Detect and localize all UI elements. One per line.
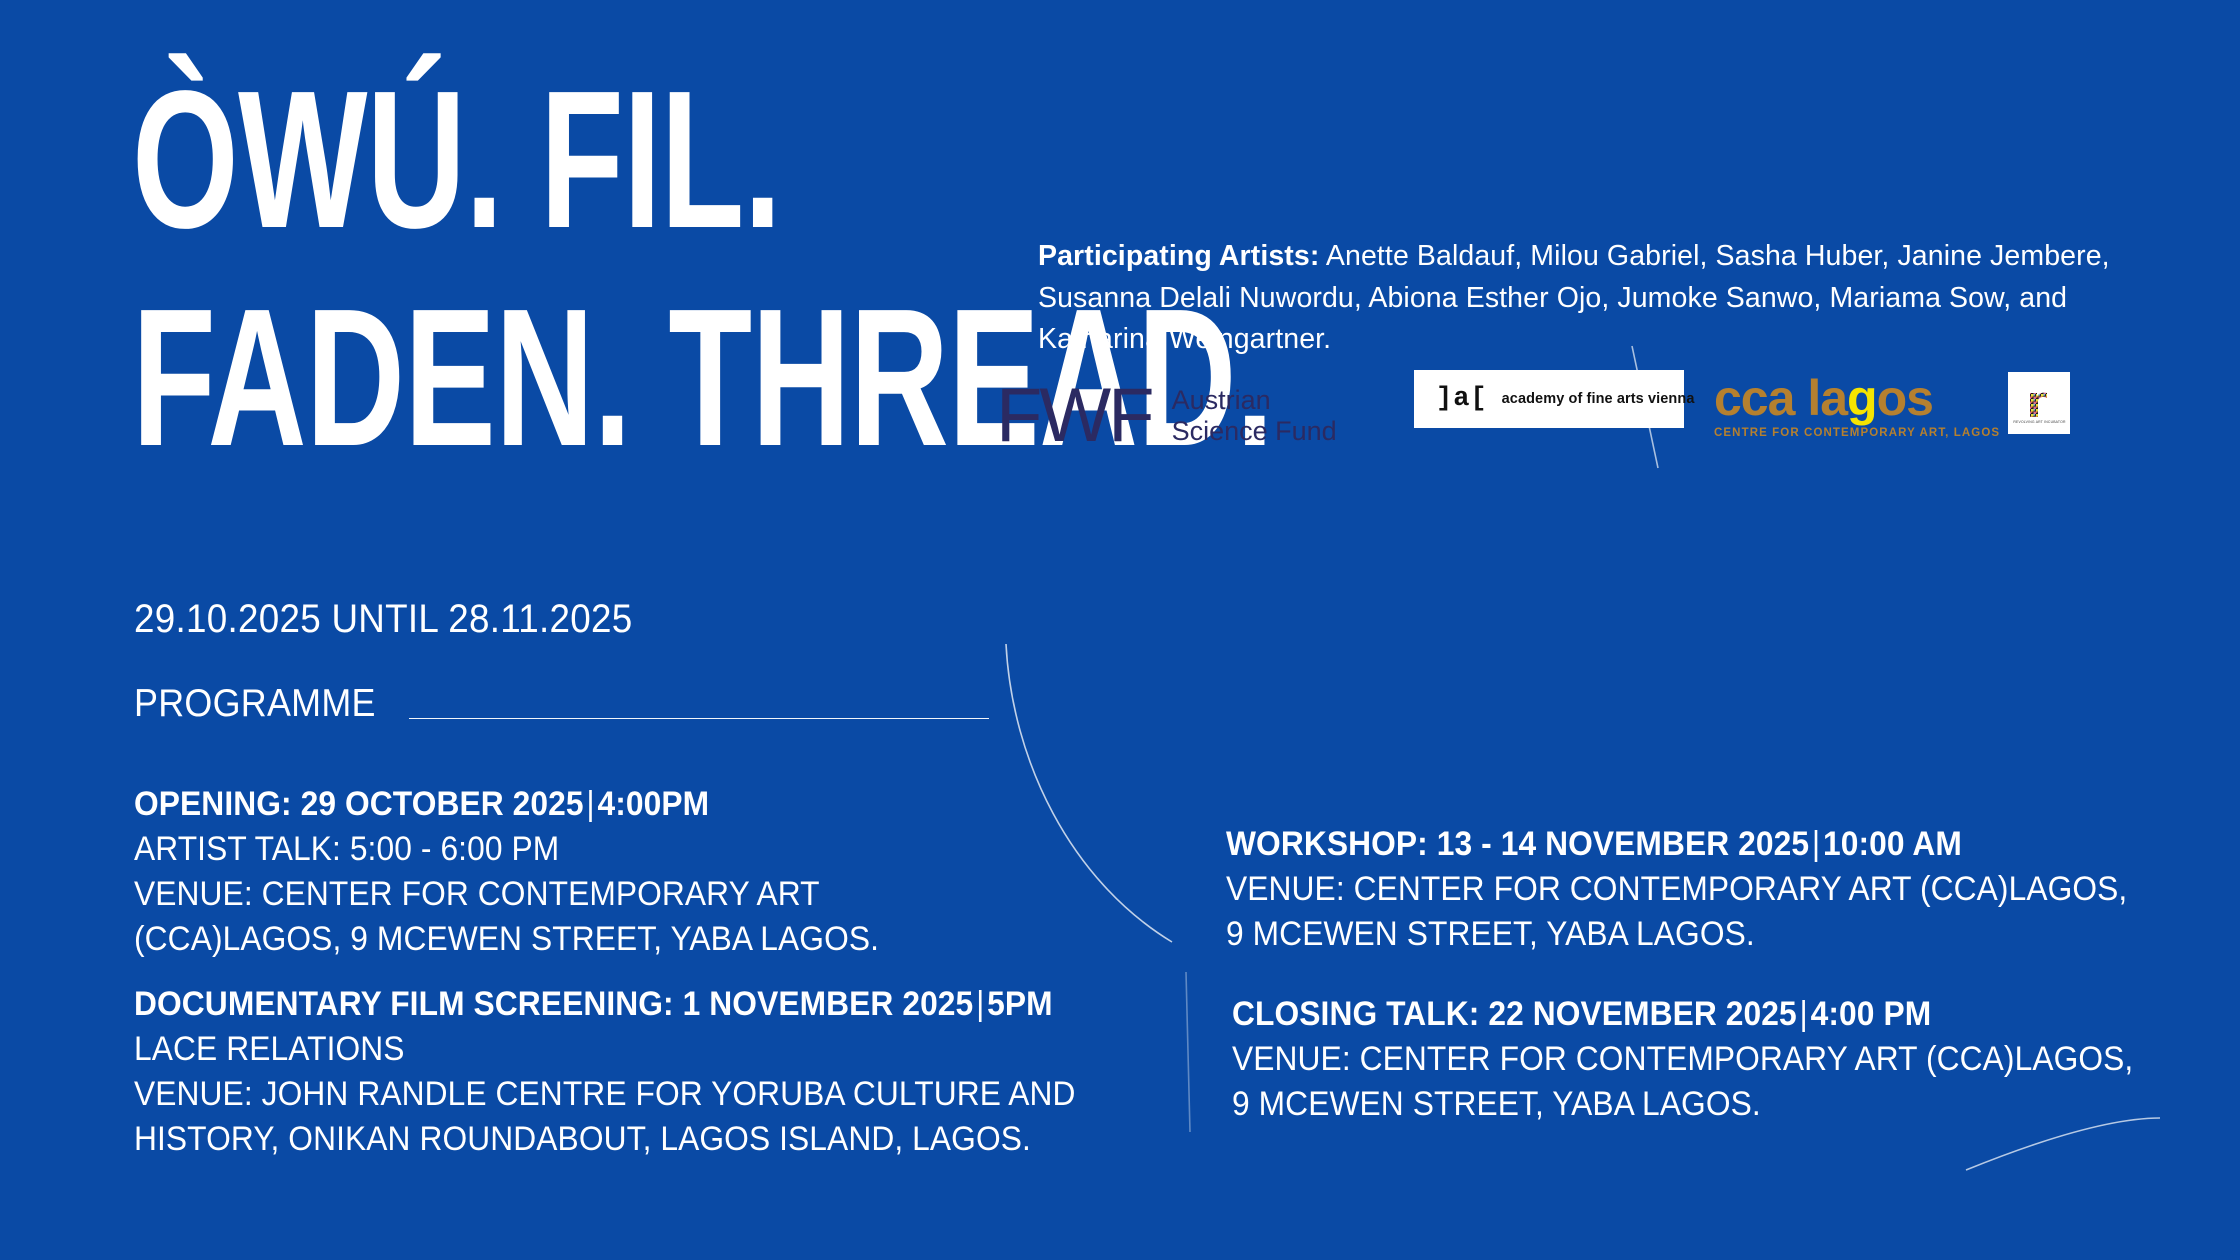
event-closing-title-prefix: CLOSING TALK: 22 NOVEMBER 2025 [1232,995,1797,1033]
logo-revolving-art-incubator: REVOLVING ART INCUBATOR [2008,372,2070,434]
event-opening-title: OPENING: 29 OCTOBER 2025|4:00PM [134,782,1100,827]
event-workshop-time: 10:00 AM [1823,825,1962,863]
event-workshop-line3: 9 MCEWEN STREET, YABA LAGOS. [1226,912,2146,957]
event-closing-title: CLOSING TALK: 22 NOVEMBER 2025|4:00 PM [1232,992,2152,1037]
academy-wordmark: academy of fine arts vienna [1502,391,1695,407]
event-closing-divider: | [1797,995,1811,1033]
event-workshop-divider: | [1809,825,1823,863]
rai-collage-r-icon [2026,384,2052,418]
programme-heading: PROGRAMME [134,682,989,726]
logo-fwf-austrian-science-fund: FWF Austrian Science Fund [996,378,1337,454]
event-closing-line3: 9 MCEWEN STREET, YABA LAGOS. [1232,1082,2152,1127]
event-workshop-title-prefix: WORKSHOP: 13 - 14 NOVEMBER 2025 [1226,825,1809,863]
academy-bracket-icon: ]a[ [1436,384,1488,414]
event-opening-line3: VENUE: CENTER FOR CONTEMPORARY ART [134,872,1100,917]
event-opening-divider: | [584,785,598,823]
partner-logos: FWF Austrian Science Fund ]a[ academy of… [996,370,2116,460]
participating-artists: Participating Artists: Anette Baldauf, M… [1038,236,2138,361]
event-workshop-line2: VENUE: CENTER FOR CONTEMPORARY ART (CCA)… [1226,867,2146,912]
logo-academy-of-fine-arts-vienna: ]a[ academy of fine arts vienna [1414,370,1684,428]
exhibition-dates: 29.10.2025 UNTIL 28.11.2025 [134,597,632,642]
cca-subtitle: CENTRE FOR CONTEMPORARY ART, LAGOS [1714,427,2000,439]
event-screening-title-prefix: DOCUMENTARY FILM SCREENING: 1 NOVEMBER 2… [134,985,973,1023]
event-screening: DOCUMENTARY FILM SCREENING: 1 NOVEMBER 2… [134,982,1214,1161]
event-screening-title: DOCUMENTARY FILM SCREENING: 1 NOVEMBER 2… [134,982,1128,1027]
event-closing-time: 4:00 PM [1811,995,1932,1033]
fwf-line2: Science Fund [1172,416,1337,447]
event-closing: CLOSING TALK: 22 NOVEMBER 2025|4:00 PM V… [1232,992,2232,1127]
fwf-fullname: Austrian Science Fund [1172,385,1337,447]
event-opening-line4: (CCA)LAGOS, 9 MCEWEN STREET, YABA LAGOS. [134,917,1100,962]
cca-wordmark: cca lagos [1714,372,2000,425]
event-screening-line4: HISTORY, ONIKAN ROUNDABOUT, LAGOS ISLAND… [134,1117,1128,1162]
event-opening: OPENING: 29 OCTOBER 2025|4:00PM ARTIST T… [134,782,1184,961]
fwf-line1: Austrian [1172,385,1337,416]
rai-subtitle: REVOLVING ART INCUBATOR [2013,420,2065,424]
cca-wordmark-g: g [1847,370,1877,426]
event-closing-line2: VENUE: CENTER FOR CONTEMPORARY ART (CCA)… [1232,1037,2152,1082]
event-screening-line3: VENUE: JOHN RANDLE CENTRE FOR YORUBA CUL… [134,1072,1128,1117]
poster-canvas: ÒWÚ. FIL. FADEN. THREAD. 29.10.2025 UNTI… [0,0,2240,1260]
cca-wordmark-pre: cca la [1714,370,1847,426]
event-workshop: WORKSHOP: 13 - 14 NOVEMBER 2025|10:00 AM… [1226,822,2226,957]
event-opening-time: 4:00PM [598,785,710,823]
fwf-wordmark-icon: FWF [996,378,1152,454]
cca-wordmark-post: os [1877,370,1933,426]
logo-cca-lagos: cca lagos CENTRE FOR CONTEMPORARY ART, L… [1714,372,2000,439]
event-opening-line2: ARTIST TALK: 5:00 - 6:00 PM [134,827,1100,872]
title-line-yoruba-german: ÒWÚ. FIL. [132,72,762,248]
title-line-german-english: FADEN. THREAD. [132,290,762,466]
event-screening-divider: | [973,985,987,1023]
event-screening-time: 5PM [987,985,1053,1023]
event-opening-title-prefix: OPENING: 29 OCTOBER 2025 [134,785,584,823]
programme-label: PROGRAMME [134,682,376,726]
programme-divider-rule [409,718,989,719]
participating-artists-label: Participating Artists: [1038,240,1319,272]
page-title: ÒWÚ. FIL. FADEN. THREAD. [132,72,1032,467]
event-workshop-title: WORKSHOP: 13 - 14 NOVEMBER 2025|10:00 AM [1226,822,2146,867]
event-screening-line2: LACE RELATIONS [134,1027,1128,1072]
